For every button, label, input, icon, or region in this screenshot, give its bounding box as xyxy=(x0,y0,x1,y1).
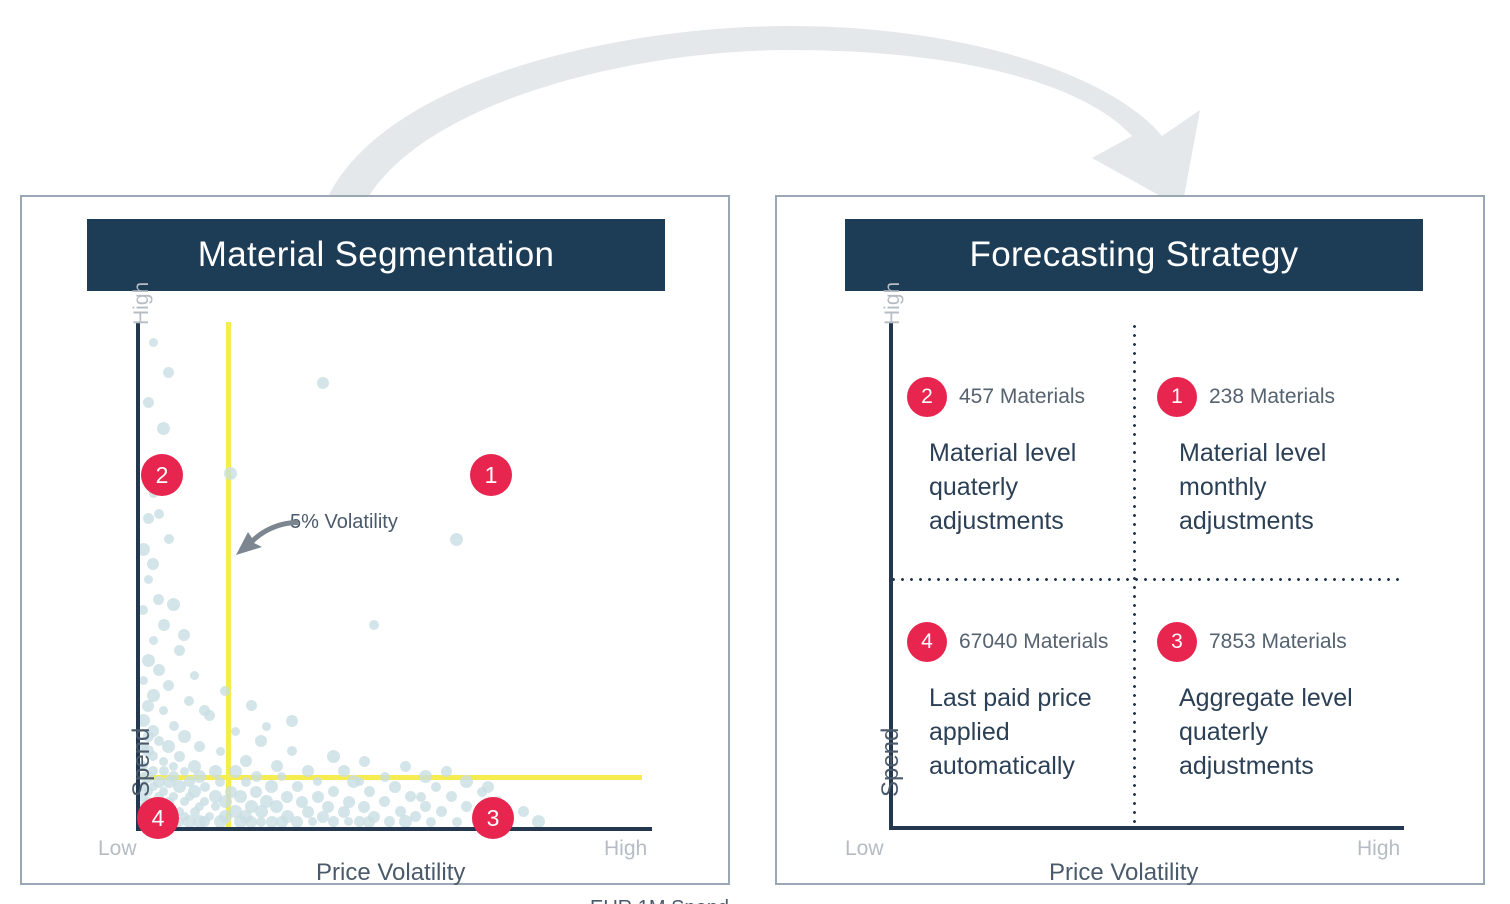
x-axis-high-label: High xyxy=(604,837,647,861)
quadrant-strategy-text: Aggregate level quaterly adjustments xyxy=(1179,682,1399,783)
scatter-point xyxy=(209,765,222,778)
scatter-point xyxy=(287,746,297,756)
scatter-point xyxy=(271,760,283,772)
scatter-point xyxy=(441,766,452,777)
scatter-point xyxy=(154,509,164,519)
scatter-point xyxy=(149,636,158,645)
scatter-point xyxy=(229,765,242,778)
scatter-point xyxy=(255,735,267,747)
quadrant-matrix: High Spend Low High Price Volatility 2 4… xyxy=(777,197,1487,887)
scatter-point xyxy=(327,750,340,763)
scatter-point xyxy=(153,664,165,676)
scatter-point xyxy=(241,777,251,787)
scatter-point xyxy=(256,817,266,827)
scatter-point xyxy=(164,534,174,544)
scatter-point xyxy=(224,467,237,480)
scatter-point xyxy=(286,715,298,727)
scatter-point xyxy=(246,700,257,711)
scatter-point xyxy=(169,762,178,771)
quadrant-top-left: 2 457 Materials Material level quaterly … xyxy=(907,377,1149,538)
quadrant-strategy-text: Last paid price applied automatically xyxy=(929,682,1149,783)
scatter-point xyxy=(426,817,436,827)
scatter-point xyxy=(184,696,194,706)
scatter-point xyxy=(358,801,370,813)
y-axis-title: Spend xyxy=(877,728,905,797)
quadrant-material-count: 238 Materials xyxy=(1209,385,1335,409)
scatter-chart: High Spend Low High Price Volatility 5% … xyxy=(22,197,732,887)
scatter-point xyxy=(461,801,472,812)
scatter-point xyxy=(234,790,247,803)
quadrant-material-count: 67040 Materials xyxy=(959,630,1108,654)
scatter-point xyxy=(389,781,401,793)
scatter-point xyxy=(313,777,322,786)
quadrant-header: 4 67040 Materials xyxy=(907,622,1149,662)
scatter-point xyxy=(220,686,230,696)
panel-forecasting-strategy: Forecasting Strategy High Spend Low High… xyxy=(775,195,1485,885)
quadrant-material-count: 7853 Materials xyxy=(1209,630,1347,654)
quadrant-top-right: 1 238 Materials Material level monthly a… xyxy=(1157,377,1399,538)
scatter-point xyxy=(302,765,314,777)
scatter-point xyxy=(159,706,168,715)
scatter-point xyxy=(250,786,262,798)
flow-arrow-icon xyxy=(320,18,1220,208)
quadrant-divider-horizontal xyxy=(889,578,1404,581)
quadrant-bottom-right: 3 7853 Materials Aggregate level quaterl… xyxy=(1157,622,1399,783)
quadrant-badge-2[interactable]: 2 xyxy=(907,377,947,417)
scatter-point xyxy=(157,422,170,435)
scatter-point xyxy=(143,397,154,408)
scatter-point xyxy=(153,594,164,605)
scatter-point xyxy=(380,772,390,782)
segment-badge-2[interactable]: 2 xyxy=(141,454,183,496)
scatter-point xyxy=(231,727,240,736)
scatter-point xyxy=(379,796,390,807)
scatter-point xyxy=(174,645,185,656)
scatter-point xyxy=(328,816,339,827)
scatter-point xyxy=(436,806,447,817)
scatter-point xyxy=(199,816,210,827)
scatter-point xyxy=(142,700,154,712)
scatter-point xyxy=(163,680,174,691)
scatter-point xyxy=(149,338,158,347)
segment-badge-4[interactable]: 4 xyxy=(137,797,179,839)
quadrant-badge-1[interactable]: 1 xyxy=(1157,377,1197,417)
scatter-point xyxy=(338,806,350,818)
x-axis-low-label: Low xyxy=(845,837,884,861)
scatter-point xyxy=(277,772,286,781)
scatter-point xyxy=(518,806,529,817)
scatter-point xyxy=(452,817,462,827)
scatter-point xyxy=(178,629,190,641)
x-axis-title: Price Volatility xyxy=(316,859,465,887)
infographic-root: Material Segmentation High Spend Low Hig… xyxy=(0,0,1510,904)
segment-badge-1[interactable]: 1 xyxy=(470,454,512,496)
scatter-points-group xyxy=(138,322,652,827)
y-axis-high-label: High xyxy=(881,282,905,325)
scatter-point xyxy=(347,775,360,788)
quadrant-strategy-text: Material level quaterly adjustments xyxy=(929,437,1149,538)
scatter-point xyxy=(174,751,185,762)
scatter-point xyxy=(194,741,205,752)
scatter-point xyxy=(292,781,303,792)
scatter-point xyxy=(173,780,186,793)
scatter-point xyxy=(215,777,225,787)
scatter-point xyxy=(240,755,252,767)
scatter-point xyxy=(180,767,189,776)
quadrant-header: 3 7853 Materials xyxy=(1157,622,1399,662)
quadrant-header: 2 457 Materials xyxy=(907,377,1149,417)
scatter-point xyxy=(302,806,314,818)
scatter-point xyxy=(446,791,457,802)
quadrant-badge-4[interactable]: 4 xyxy=(907,622,947,662)
scatter-point xyxy=(359,756,370,767)
scatter-point xyxy=(180,797,189,806)
scatter-point xyxy=(431,782,441,792)
quadrant-material-count: 457 Materials xyxy=(959,385,1085,409)
scatter-point xyxy=(338,765,350,777)
scatter-point xyxy=(312,791,324,803)
scatter-point xyxy=(460,775,473,788)
scatter-point xyxy=(308,817,317,826)
scatter-point xyxy=(159,757,168,766)
scatter-point xyxy=(384,816,395,827)
scatter-point xyxy=(158,619,170,631)
scatter-point xyxy=(200,782,210,792)
volatility-annotation-label: 5% Volatility xyxy=(290,511,398,534)
scatter-point xyxy=(281,791,293,803)
y-axis-high-label: High xyxy=(130,282,154,325)
quadrant-strategy-text: Material level monthly adjustments xyxy=(1179,437,1399,538)
scatter-point xyxy=(328,786,339,797)
y-axis-title: Spend xyxy=(128,728,156,797)
scatter-point xyxy=(144,575,153,584)
quadrant-header: 1 238 Materials xyxy=(1157,377,1399,417)
scatter-point xyxy=(419,770,432,783)
scatter-point xyxy=(400,761,411,772)
scatter-point xyxy=(159,766,169,776)
scatter-point xyxy=(211,802,220,811)
panel-material-segmentation: Material Segmentation High Spend Low Hig… xyxy=(20,195,730,885)
scatter-point xyxy=(251,771,262,782)
scatter-point xyxy=(369,620,379,630)
spend-annotation-label: EUR 1M Spend xyxy=(590,897,729,904)
scatter-point xyxy=(143,513,154,524)
scatter-point xyxy=(416,792,426,802)
scatter-point xyxy=(162,740,175,753)
scatter-point xyxy=(262,722,271,731)
x-axis-line xyxy=(136,827,652,831)
scatter-point xyxy=(270,800,283,813)
scatter-point xyxy=(142,654,155,667)
scatter-point xyxy=(420,801,431,812)
scatter-point xyxy=(178,730,191,743)
scatter-point xyxy=(482,781,494,793)
scatter-point xyxy=(344,817,353,826)
scatter-point xyxy=(167,598,180,611)
segment-badge-3[interactable]: 3 xyxy=(472,797,514,839)
scatter-point xyxy=(364,786,375,797)
scatter-point xyxy=(147,558,159,570)
scatter-point xyxy=(450,533,463,546)
scatter-point xyxy=(265,780,278,793)
x-axis-title: Price Volatility xyxy=(1049,859,1198,887)
scatter-point xyxy=(317,377,329,389)
x-axis-low-label: Low xyxy=(98,837,137,861)
quadrant-bottom-left: 4 67040 Materials Last paid price applie… xyxy=(907,622,1149,783)
quadrant-badge-3[interactable]: 3 xyxy=(1157,622,1197,662)
x-axis-line xyxy=(889,826,1404,830)
scatter-point xyxy=(216,747,225,756)
scatter-point xyxy=(163,367,174,378)
x-axis-high-label: High xyxy=(1357,837,1400,861)
scatter-point xyxy=(405,791,416,802)
scatter-point xyxy=(190,671,199,680)
scatter-point xyxy=(169,721,179,731)
